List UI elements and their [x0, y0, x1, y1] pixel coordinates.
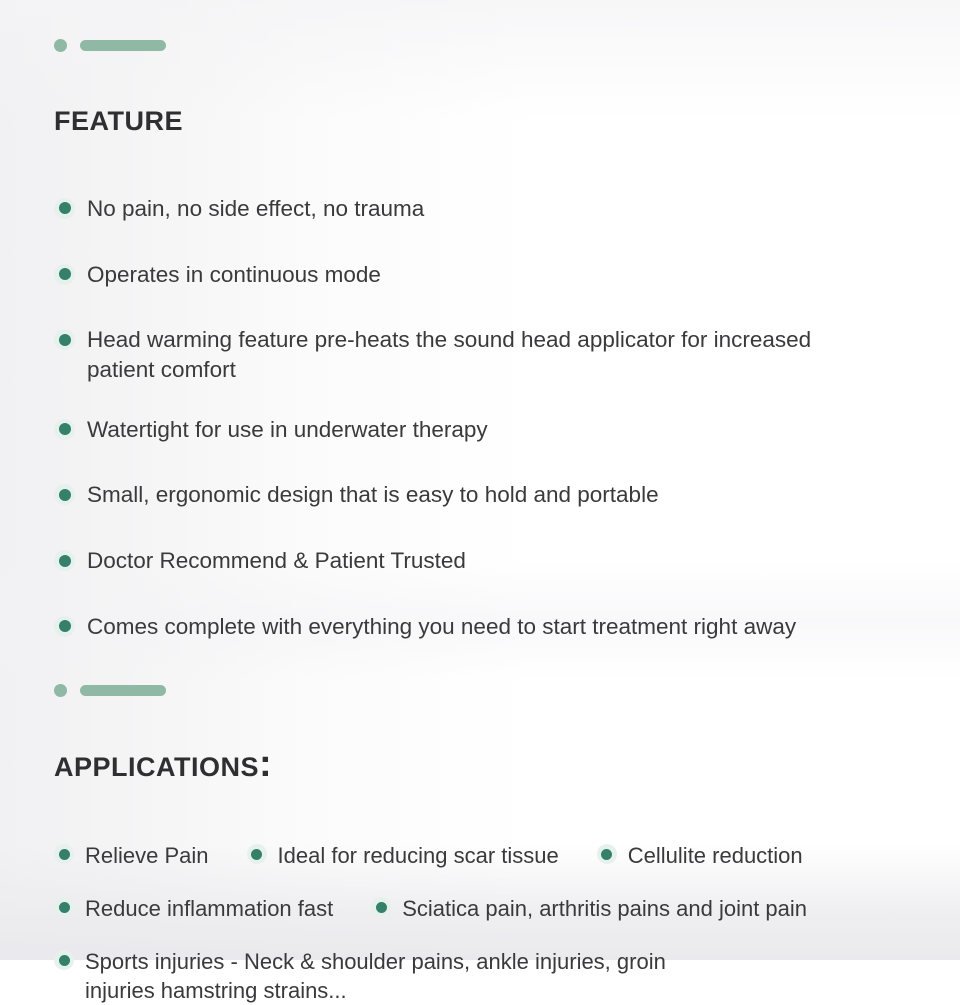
bullet-dot-icon	[247, 844, 267, 864]
section-decoration-feature	[54, 38, 960, 52]
decoration-bar-icon	[80, 40, 166, 51]
bullet-dot-icon	[597, 844, 617, 864]
list-item: Sciatica pain, arthritis pains and joint…	[371, 894, 807, 923]
bullet-dot-icon	[54, 329, 75, 350]
bullet-dot-icon	[371, 897, 391, 917]
bullet-dot-icon	[54, 897, 74, 917]
decoration-dot-icon	[54, 684, 67, 697]
list-item-label: Comes complete with everything you need …	[87, 612, 796, 642]
list-item: Small, ergonomic design that is easy to …	[54, 480, 960, 510]
list-item: Head warming feature pre-heats the sound…	[54, 325, 844, 384]
applications-row: Sports injuries - Neck & shoulder pains,…	[54, 947, 960, 1005]
applications-row: Reduce inflammation fast Sciatica pain, …	[54, 894, 960, 923]
list-item: Relieve Pain	[54, 841, 209, 870]
bullet-dot-icon	[54, 484, 75, 505]
bullet-dot-icon	[54, 198, 75, 219]
list-item: Doctor Recommend & Patient Trusted	[54, 546, 960, 576]
bullet-dot-icon	[54, 550, 75, 571]
feature-list: No pain, no side effect, no trauma Opera…	[54, 194, 960, 642]
bullet-dot-icon	[54, 419, 75, 440]
list-item-label: Watertight for use in underwater therapy	[87, 415, 488, 445]
decoration-dot-icon	[54, 39, 67, 52]
product-feature-page: Feature No pain, no side effect, no trau…	[0, 0, 960, 960]
list-item-label: Cellulite reduction	[628, 841, 803, 870]
list-item-label: Small, ergonomic design that is easy to …	[87, 480, 659, 510]
list-item: Operates in continuous mode	[54, 260, 960, 290]
list-item-label: Ideal for reducing scar tissue	[278, 841, 559, 870]
decoration-bar-icon	[80, 685, 166, 696]
page-content: Feature No pain, no side effect, no trau…	[0, 0, 960, 1005]
applications-row: Relieve Pain Ideal for reducing scar tis…	[54, 841, 960, 870]
list-item: Watertight for use in underwater therapy	[54, 415, 960, 445]
list-item: Reduce inflammation fast	[54, 894, 333, 923]
list-item: Ideal for reducing scar tissue	[247, 841, 559, 870]
list-item-label: Operates in continuous mode	[87, 260, 381, 290]
bullet-dot-icon	[54, 616, 75, 637]
list-item-label: Relieve Pain	[85, 841, 209, 870]
list-item: No pain, no side effect, no trauma	[54, 194, 960, 224]
list-item: Comes complete with everything you need …	[54, 612, 960, 642]
list-item: Sports injuries - Neck & shoulder pains,…	[54, 947, 734, 1005]
list-item-label: Reduce inflammation fast	[85, 894, 333, 923]
page-title-applications: Applications:	[54, 745, 960, 783]
bullet-dot-icon	[54, 264, 75, 285]
list-item: Cellulite reduction	[597, 841, 803, 870]
list-item-label: No pain, no side effect, no trauma	[87, 194, 424, 224]
applications-list: Relieve Pain Ideal for reducing scar tis…	[54, 841, 960, 1005]
list-item-label: Sciatica pain, arthritis pains and joint…	[402, 894, 807, 923]
page-title-feature: Feature	[54, 99, 960, 137]
bullet-dot-icon	[54, 844, 74, 864]
list-item-label: Doctor Recommend & Patient Trusted	[87, 546, 466, 576]
list-item-label: Head warming feature pre-heats the sound…	[87, 325, 844, 384]
list-item-label: Sports injuries - Neck & shoulder pains,…	[85, 947, 734, 1005]
bullet-dot-icon	[54, 950, 74, 970]
section-decoration-applications	[54, 683, 960, 697]
